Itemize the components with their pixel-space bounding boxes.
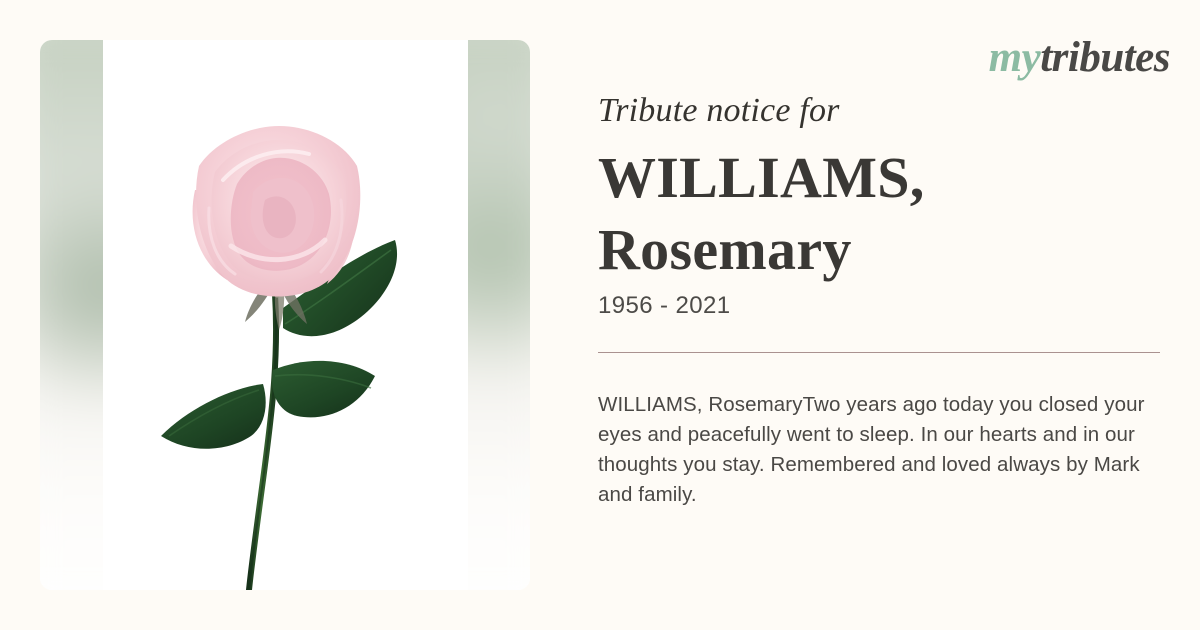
rose-bloom [193,126,361,297]
mytributes-logo[interactable]: mytributes [989,36,1170,79]
rose-photo [103,40,468,590]
deceased-givenname: Rosemary [598,214,1018,286]
logo-text-my: my [989,34,1041,81]
logo-text-tributes: tributes [1040,34,1170,81]
section-divider [598,352,1160,353]
tribute-photo-panel [40,40,530,590]
tribute-content: mytributes Tribute notice for WILLIAMS, … [598,0,1170,630]
tribute-notice-text: WILLIAMS, RosemaryTwo years ago today yo… [598,390,1176,510]
page-title: WILLIAMS, Rosemary [598,142,1018,286]
deceased-surname: WILLIAMS, [598,142,1018,214]
lifespan-years: 1956 - 2021 [598,292,731,320]
tribute-eyebrow: Tribute notice for [598,92,840,130]
rose-illustration [103,40,468,590]
